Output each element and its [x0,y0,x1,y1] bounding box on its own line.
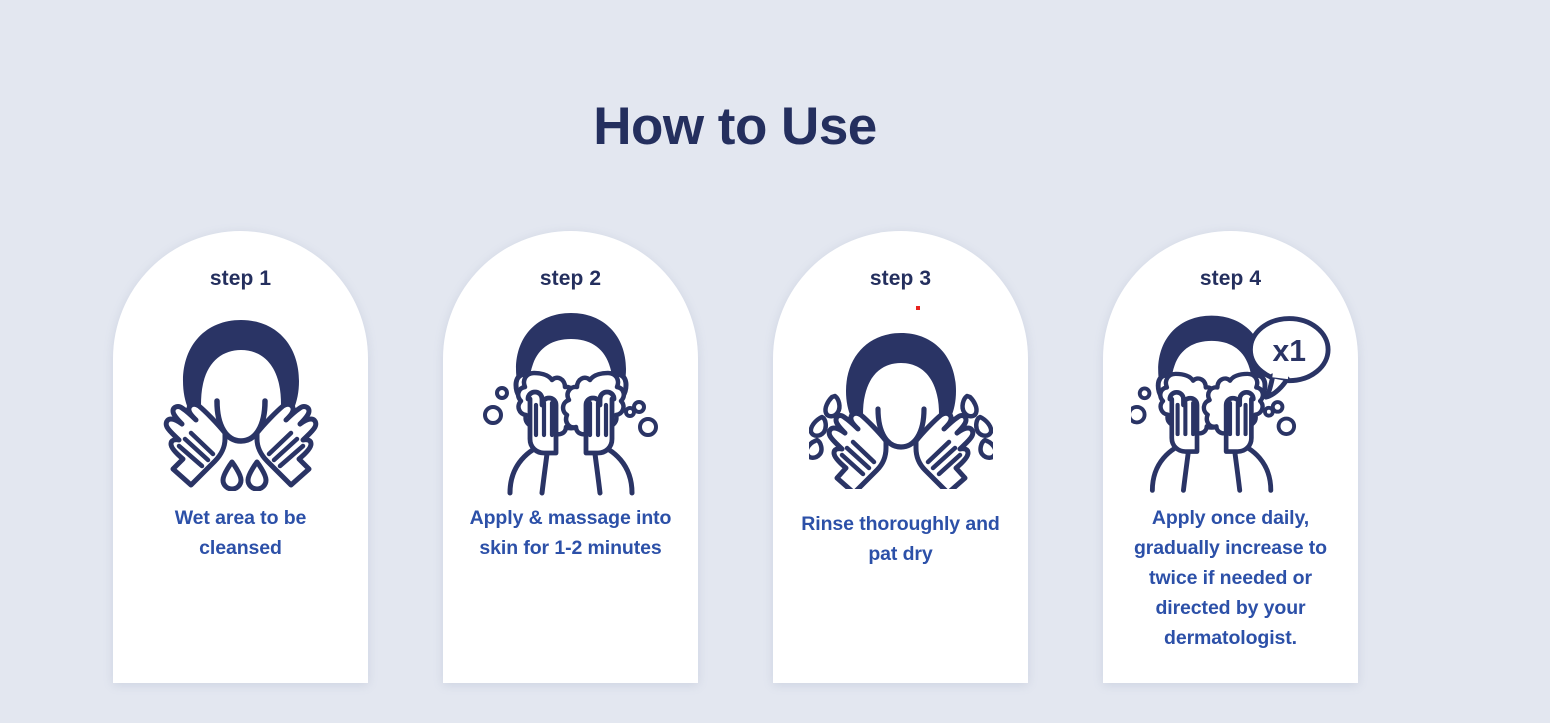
steps-row: step 1 [113,231,1358,683]
badge-label: x1 [1272,335,1305,368]
step-description: Apply once daily, gradually increase to … [1123,503,1338,653]
step-label: step 1 [210,266,271,291]
face-rinse-splash-icon [801,319,1001,499]
face-wash-water-icon [141,313,341,493]
step-description: Rinse thoroughly and pat dry [796,509,1006,569]
face-wash-foam-icon [471,313,671,493]
step-card-2[interactable]: step 2 [443,231,698,683]
red-speck-artifact [916,306,920,310]
step-card-3[interactable]: step 3 [773,231,1028,683]
step-card-4[interactable]: step 4 [1103,231,1358,683]
step-label: step 4 [1200,266,1261,291]
step-description: Wet area to be cleansed [136,503,346,563]
face-wash-foam-icon: x1 [1131,313,1331,493]
step-label: step 3 [870,266,931,291]
step-label: step 2 [540,266,601,291]
page-title: How to Use [0,97,1470,158]
step-description: Apply & massage into skin for 1-2 minute… [466,503,676,563]
step-card-1[interactable]: step 1 [113,231,368,683]
